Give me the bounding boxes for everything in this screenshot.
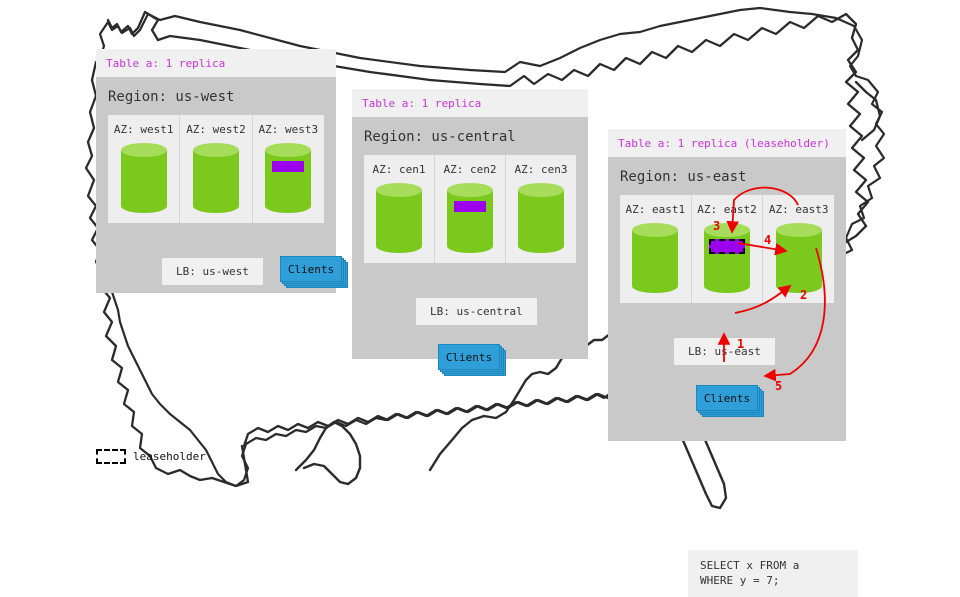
az-row: AZ: west1 AZ: west2 [108,115,324,223]
diagram-canvas: Table a: 1 replica Region: us-west AZ: w… [0,0,960,540]
az-label: AZ: west3 [253,123,324,136]
az-cell-cen3[interactable]: AZ: cen3 [506,155,576,263]
az-label: AZ: west2 [180,123,251,136]
az-cell-cen2[interactable]: AZ: cen2 [435,155,506,263]
az-label: AZ: east3 [763,203,834,216]
node-cylinder-east3[interactable] [763,223,834,293]
dashed-rect-icon [96,449,126,464]
node-cylinder-cen2[interactable] [435,183,505,253]
cylinder-icon [704,223,750,293]
node-cylinder-west1[interactable] [108,143,179,213]
arrow-label-1: 1 [737,337,744,351]
az-label: AZ: east1 [620,203,691,216]
clients-stack-us-west[interactable]: Clients [280,256,342,282]
region-body: Region: us-central AZ: cen1 AZ: cen2 [352,117,588,359]
clients-label: Clients [696,385,758,411]
leaseholder-replica-marker [709,239,745,254]
sql-query-box: SELECT x FROM a WHERE y = 7; [688,550,858,597]
node-cylinder-cen1[interactable] [364,183,434,253]
az-label: AZ: east2 [692,203,763,216]
region-title: Region: us-central [352,117,588,155]
region-title: Region: us-west [96,77,336,115]
clients-stack-us-central[interactable]: Clients [438,344,500,370]
az-cell-cen1[interactable]: AZ: cen1 [364,155,435,263]
region-body: Region: us-east AZ: east1 AZ: east2 [608,157,846,441]
arrow-label-2: 2 [800,288,807,302]
clients-label: Clients [438,344,500,370]
az-label: AZ: cen1 [364,163,434,176]
table-replica-header: Table a: 1 replica (leaseholder) [608,129,846,157]
cylinder-icon [518,183,564,253]
az-cell-east2[interactable]: AZ: east2 [692,195,764,303]
region-card-us-central[interactable]: Table a: 1 replica Region: us-central AZ… [352,89,588,359]
az-cell-west1[interactable]: AZ: west1 [108,115,180,223]
arrow-label-3: 3 [713,219,720,233]
region-title: Region: us-east [608,157,846,195]
az-label: AZ: west1 [108,123,179,136]
cylinder-icon [632,223,678,293]
node-cylinder-east2[interactable] [692,223,763,293]
az-label: AZ: cen3 [506,163,576,176]
arrow-label-4: 4 [764,233,771,247]
arrow-label-5: 5 [775,379,782,393]
cylinder-icon [193,143,239,213]
clients-stack-us-east[interactable]: Clients [696,385,758,411]
az-row: AZ: cen1 AZ: cen2 [364,155,576,263]
az-cell-east1[interactable]: AZ: east1 [620,195,692,303]
cylinder-icon [776,223,822,293]
clients-label: Clients [280,256,342,282]
cylinder-icon [121,143,167,213]
az-cell-west3[interactable]: AZ: west3 [253,115,324,223]
table-replica-header: Table a: 1 replica [96,49,336,77]
node-cylinder-cen3[interactable] [506,183,576,253]
az-label: AZ: cen2 [435,163,505,176]
node-cylinder-west2[interactable] [180,143,251,213]
region-card-us-east[interactable]: Table a: 1 replica (leaseholder) Region:… [608,129,846,441]
load-balancer-us-east[interactable]: LB: us-east [674,338,775,365]
az-cell-east3[interactable]: AZ: east3 [763,195,834,303]
region-card-us-west[interactable]: Table a: 1 replica Region: us-west AZ: w… [96,49,336,293]
legend-label: leaseholder [133,450,206,463]
replica-marker [272,161,304,172]
region-body: Region: us-west AZ: west1 AZ: west2 [96,77,336,293]
cylinder-icon [265,143,311,213]
cylinder-icon [376,183,422,253]
replica-marker [454,201,486,212]
az-row: AZ: east1 AZ: east2 [620,195,834,303]
table-replica-header: Table a: 1 replica [352,89,588,117]
node-cylinder-west3[interactable] [253,143,324,213]
cylinder-icon [447,183,493,253]
load-balancer-us-central[interactable]: LB: us-central [416,298,537,325]
az-cell-west2[interactable]: AZ: west2 [180,115,252,223]
load-balancer-us-west[interactable]: LB: us-west [162,258,263,285]
legend: leaseholder [96,449,206,464]
node-cylinder-east1[interactable] [620,223,691,293]
